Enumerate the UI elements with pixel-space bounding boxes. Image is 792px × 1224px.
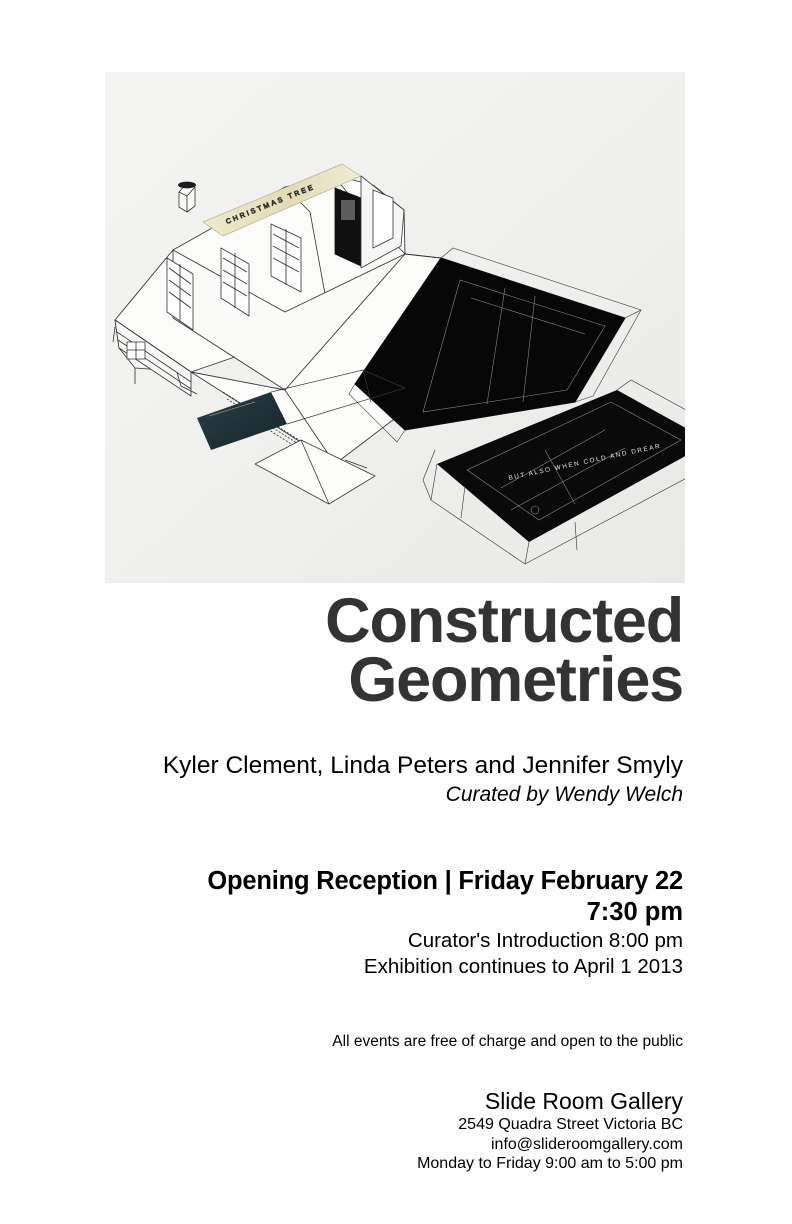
artwork-image: CHRISTMAS TREE [105, 72, 685, 583]
exhibition-dates: Exhibition continues to April 1 2013 [105, 954, 683, 980]
poster-title: Constructed Geometries [105, 592, 683, 709]
admission-notice: All events are free of charge and open t… [105, 1032, 683, 1052]
gallery-info: Slide Room Gallery 2549 Quadra Street Vi… [105, 1088, 683, 1174]
gallery-hours: Monday to Friday 9:00 am to 5:00 pm [105, 1154, 683, 1174]
title-line-2: Geometries [105, 651, 683, 710]
artwork-drawing: CHRISTMAS TREE [105, 72, 685, 583]
curator-credit: Curated by Wendy Welch [105, 781, 683, 808]
reception-block: Opening Reception | Friday February 22 7… [105, 866, 683, 981]
title-line-1: Constructed [105, 592, 683, 651]
gallery-email[interactable]: info@slideroomgallery.com [105, 1135, 683, 1155]
gallery-address: 2549 Quadra Street Victoria BC [105, 1115, 683, 1135]
gallery-name: Slide Room Gallery [105, 1088, 683, 1115]
exhibition-poster: CHRISTMAS TREE [0, 0, 792, 1224]
curator-introduction: Curator's Introduction 8:00 pm [105, 928, 683, 954]
admission-notice-text: All events are free of charge and open t… [105, 1032, 683, 1052]
reception-heading: Opening Reception | Friday February 22 [105, 866, 683, 897]
artist-names: Kyler Clement, Linda Peters and Jennifer… [105, 750, 683, 781]
reception-time: 7:30 pm [105, 897, 683, 928]
artists-block: Kyler Clement, Linda Peters and Jennifer… [105, 750, 683, 809]
